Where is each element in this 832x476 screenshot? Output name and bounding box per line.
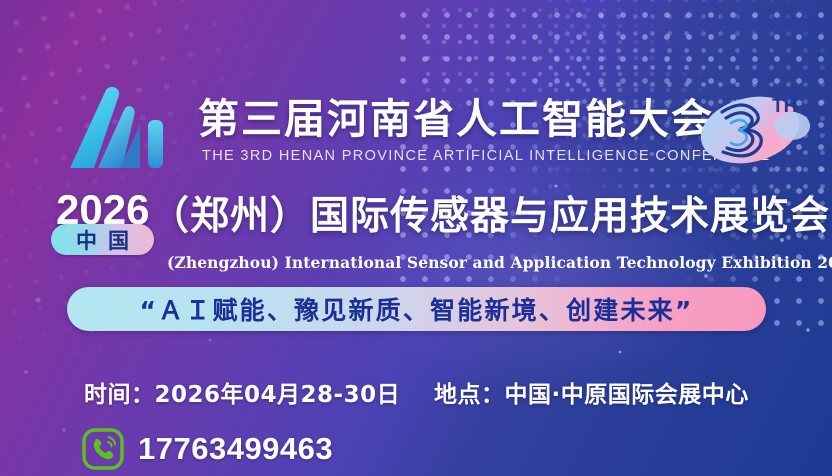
conference-poster: 第三届河南省人工智能大会 THE 3RD HENAN PROVINCE ARTI… <box>0 0 832 476</box>
event-time-label: 时间： <box>84 382 155 408</box>
country-badge: 中国 <box>51 224 154 255</box>
svg-text:TH: TH <box>772 96 797 117</box>
contact-phone-number: 17763499463 <box>138 431 333 467</box>
slogan-text: “ＡＩ赋能、豫见新质、智能新境、创建未来” <box>139 291 693 327</box>
edition-badge-3th-icon: TH <box>692 82 814 170</box>
exhibition-title-en: (Zhengzhou) International Sensor and App… <box>167 253 832 272</box>
phone-call-icon <box>82 428 124 470</box>
event-place: 地点：中国·中原国际会展中心 <box>434 375 749 409</box>
ai-logo-icon <box>64 84 182 170</box>
event-place-value: 中国·中原国际会展中心 <box>505 382 749 408</box>
event-place-label: 地点： <box>434 382 505 408</box>
country-badge-label: 中国 <box>65 225 140 255</box>
event-time-value: 2026年04月28-30日 <box>155 382 401 408</box>
conference-title-cn: 第三届河南省人工智能大会 <box>198 96 714 142</box>
contact-phone-row: 17763499463 <box>82 428 333 470</box>
event-time: 时间：2026年04月28-30日 <box>84 375 400 409</box>
exhibition-title-cn: （郑州）国际传感器与应用技术展览会 <box>150 190 830 242</box>
conference-title-en: THE 3RD HENAN PROVINCE ARTIFICIAL INTELL… <box>202 148 770 164</box>
slogan-banner: “ＡＩ赋能、豫见新质、智能新境、创建未来” <box>67 287 766 331</box>
bottom-arc-lines <box>472 346 832 476</box>
